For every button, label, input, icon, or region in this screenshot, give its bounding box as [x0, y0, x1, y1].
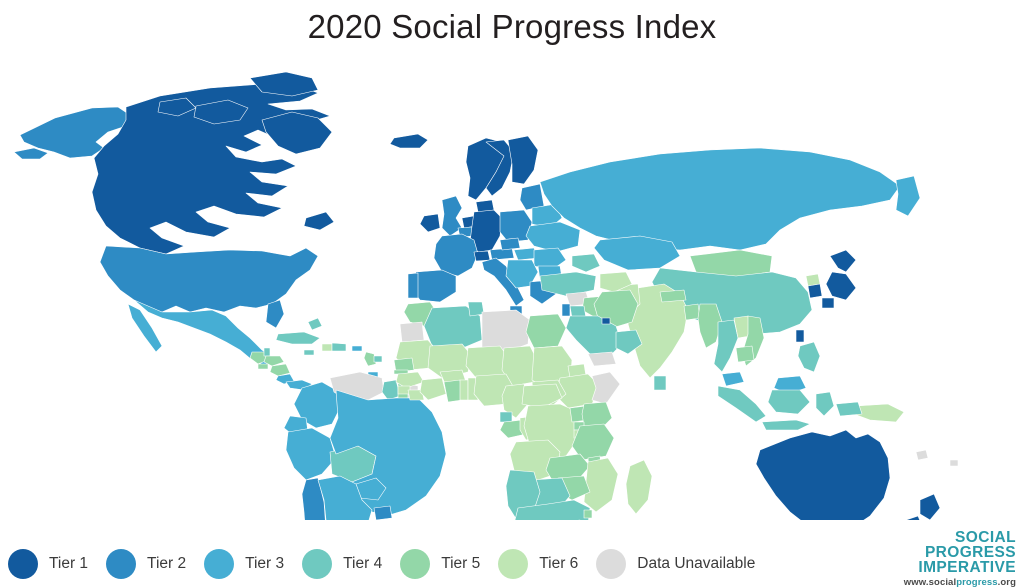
region-cape-verde — [374, 356, 382, 362]
region-dominican-republic — [332, 343, 346, 351]
region-philippines — [798, 342, 820, 372]
legend-item-tier-3[interactable]: Tier 3 — [204, 549, 284, 579]
legend-label-tier-3: Tier 3 — [245, 556, 284, 572]
region-czechia — [500, 238, 520, 250]
legend-swatch-data-unavailable — [596, 549, 626, 579]
region-indonesia-borneo — [768, 390, 810, 414]
region-bahamas — [308, 318, 322, 330]
region-united-states — [100, 246, 318, 312]
legend-item-tier-4[interactable]: Tier 4 — [302, 549, 382, 579]
region-ghana — [444, 380, 462, 402]
region-madagascar — [626, 460, 652, 514]
region-finland — [508, 136, 538, 184]
legend-label-data-unavailable: Data Unavailable — [637, 556, 755, 572]
region-togo — [460, 380, 468, 400]
legend-item-tier-2[interactable]: Tier 2 — [106, 549, 186, 579]
world-choropleth-map — [0, 60, 1024, 520]
region-cambodia — [736, 346, 754, 362]
region-new-zealand-south — [898, 516, 924, 520]
region-florida — [266, 300, 284, 328]
region-tunisia — [468, 302, 484, 316]
region-belize — [264, 348, 270, 356]
legend-label-tier-5: Tier 5 — [441, 556, 480, 572]
legend-swatch-tier-3 — [204, 549, 234, 579]
legend-label-tier-4: Tier 4 — [343, 556, 382, 572]
region-baltics — [520, 184, 544, 210]
region-japan — [830, 250, 856, 272]
region-western-sahara — [400, 322, 424, 342]
region-bangladesh — [684, 304, 700, 320]
logo-line-social: SOCIAL — [836, 530, 1016, 545]
region-indonesia-sumatra — [718, 386, 766, 422]
region-switzerland — [474, 251, 490, 261]
logo-url-prefix: www.social — [904, 577, 956, 588]
legend-label-tier-1: Tier 1 — [49, 556, 88, 572]
page-title: 2020 Social Progress Index — [0, 4, 1024, 50]
legend-swatch-tier-6 — [498, 549, 528, 579]
region-newfoundland — [304, 212, 334, 230]
legend-item-tier-1[interactable]: Tier 1 — [8, 549, 88, 579]
legend-swatch-tier-5 — [400, 549, 430, 579]
region-portugal — [408, 273, 418, 298]
region-south-korea — [808, 284, 822, 298]
region-el-salvador — [258, 364, 268, 369]
region-nepal — [660, 290, 686, 302]
region-taiwan — [796, 330, 804, 342]
region-indonesia-java — [762, 420, 810, 430]
map-legend: Tier 1 Tier 2 Tier 3 Tier 4 Tier 5 Tier … — [8, 542, 773, 586]
legend-item-tier-5[interactable]: Tier 5 — [400, 549, 480, 579]
region-ukraine — [526, 222, 580, 252]
region-haiti — [322, 344, 332, 351]
logo-url-highlight: progress — [956, 577, 997, 588]
region-new-guinea-west — [836, 402, 862, 416]
region-new-caledonia — [916, 450, 928, 460]
region-japan-kyushu — [822, 298, 834, 308]
social-progress-imperative-logo[interactable]: SOCIAL PROGRESS IMPERATIVE www.socialpro… — [836, 530, 1016, 588]
region-new-zealand-north — [920, 494, 940, 520]
region-caucasus — [572, 254, 600, 272]
region-fiji — [950, 460, 958, 466]
region-indonesia-sulawesi — [816, 392, 834, 416]
region-eswatini — [584, 510, 592, 518]
legend-item-tier-6[interactable]: Tier 6 — [498, 549, 578, 579]
logo-website-url[interactable]: www.socialprogress.org — [836, 577, 1016, 588]
region-libya — [482, 310, 530, 352]
world-map-container — [0, 60, 1024, 520]
logo-line-progress: PROGRESS — [836, 545, 1016, 560]
legend-item-data-unavailable[interactable]: Data Unavailable — [596, 549, 755, 579]
legend-label-tier-6: Tier 6 — [539, 556, 578, 572]
region-kuwait — [602, 318, 610, 324]
region-egypt — [526, 314, 566, 348]
region-cuba — [276, 332, 320, 344]
region-jamaica — [304, 350, 314, 355]
region-ivory-coast — [420, 378, 446, 400]
region-yemen — [588, 352, 616, 366]
legend-swatch-tier-4 — [302, 549, 332, 579]
region-equatorial-guinea — [500, 412, 512, 422]
region-israel — [562, 304, 570, 316]
region-mozambique — [584, 458, 618, 512]
region-malaysia — [722, 372, 744, 386]
region-japan-honshu — [826, 272, 856, 300]
legend-swatch-tier-1 — [8, 549, 38, 579]
legend-label-tier-2: Tier 2 — [147, 556, 186, 572]
region-puerto-rico — [352, 346, 362, 351]
region-peru — [286, 428, 336, 480]
region-sri-lanka — [654, 376, 666, 390]
legend-swatch-tier-2 — [106, 549, 136, 579]
region-ireland — [420, 214, 440, 232]
region-kamchatka — [896, 176, 920, 216]
region-russia — [540, 148, 900, 250]
region-somalia — [592, 372, 620, 404]
region-uruguay — [374, 506, 392, 520]
region-kazakhstan — [594, 236, 680, 270]
region-australia — [756, 430, 890, 520]
region-aleutians — [14, 148, 48, 159]
logo-url-suffix: .org — [998, 577, 1016, 588]
region-france — [434, 234, 478, 276]
region-iceland — [390, 134, 428, 148]
logo-line-imperative: IMPERATIVE — [836, 560, 1016, 575]
